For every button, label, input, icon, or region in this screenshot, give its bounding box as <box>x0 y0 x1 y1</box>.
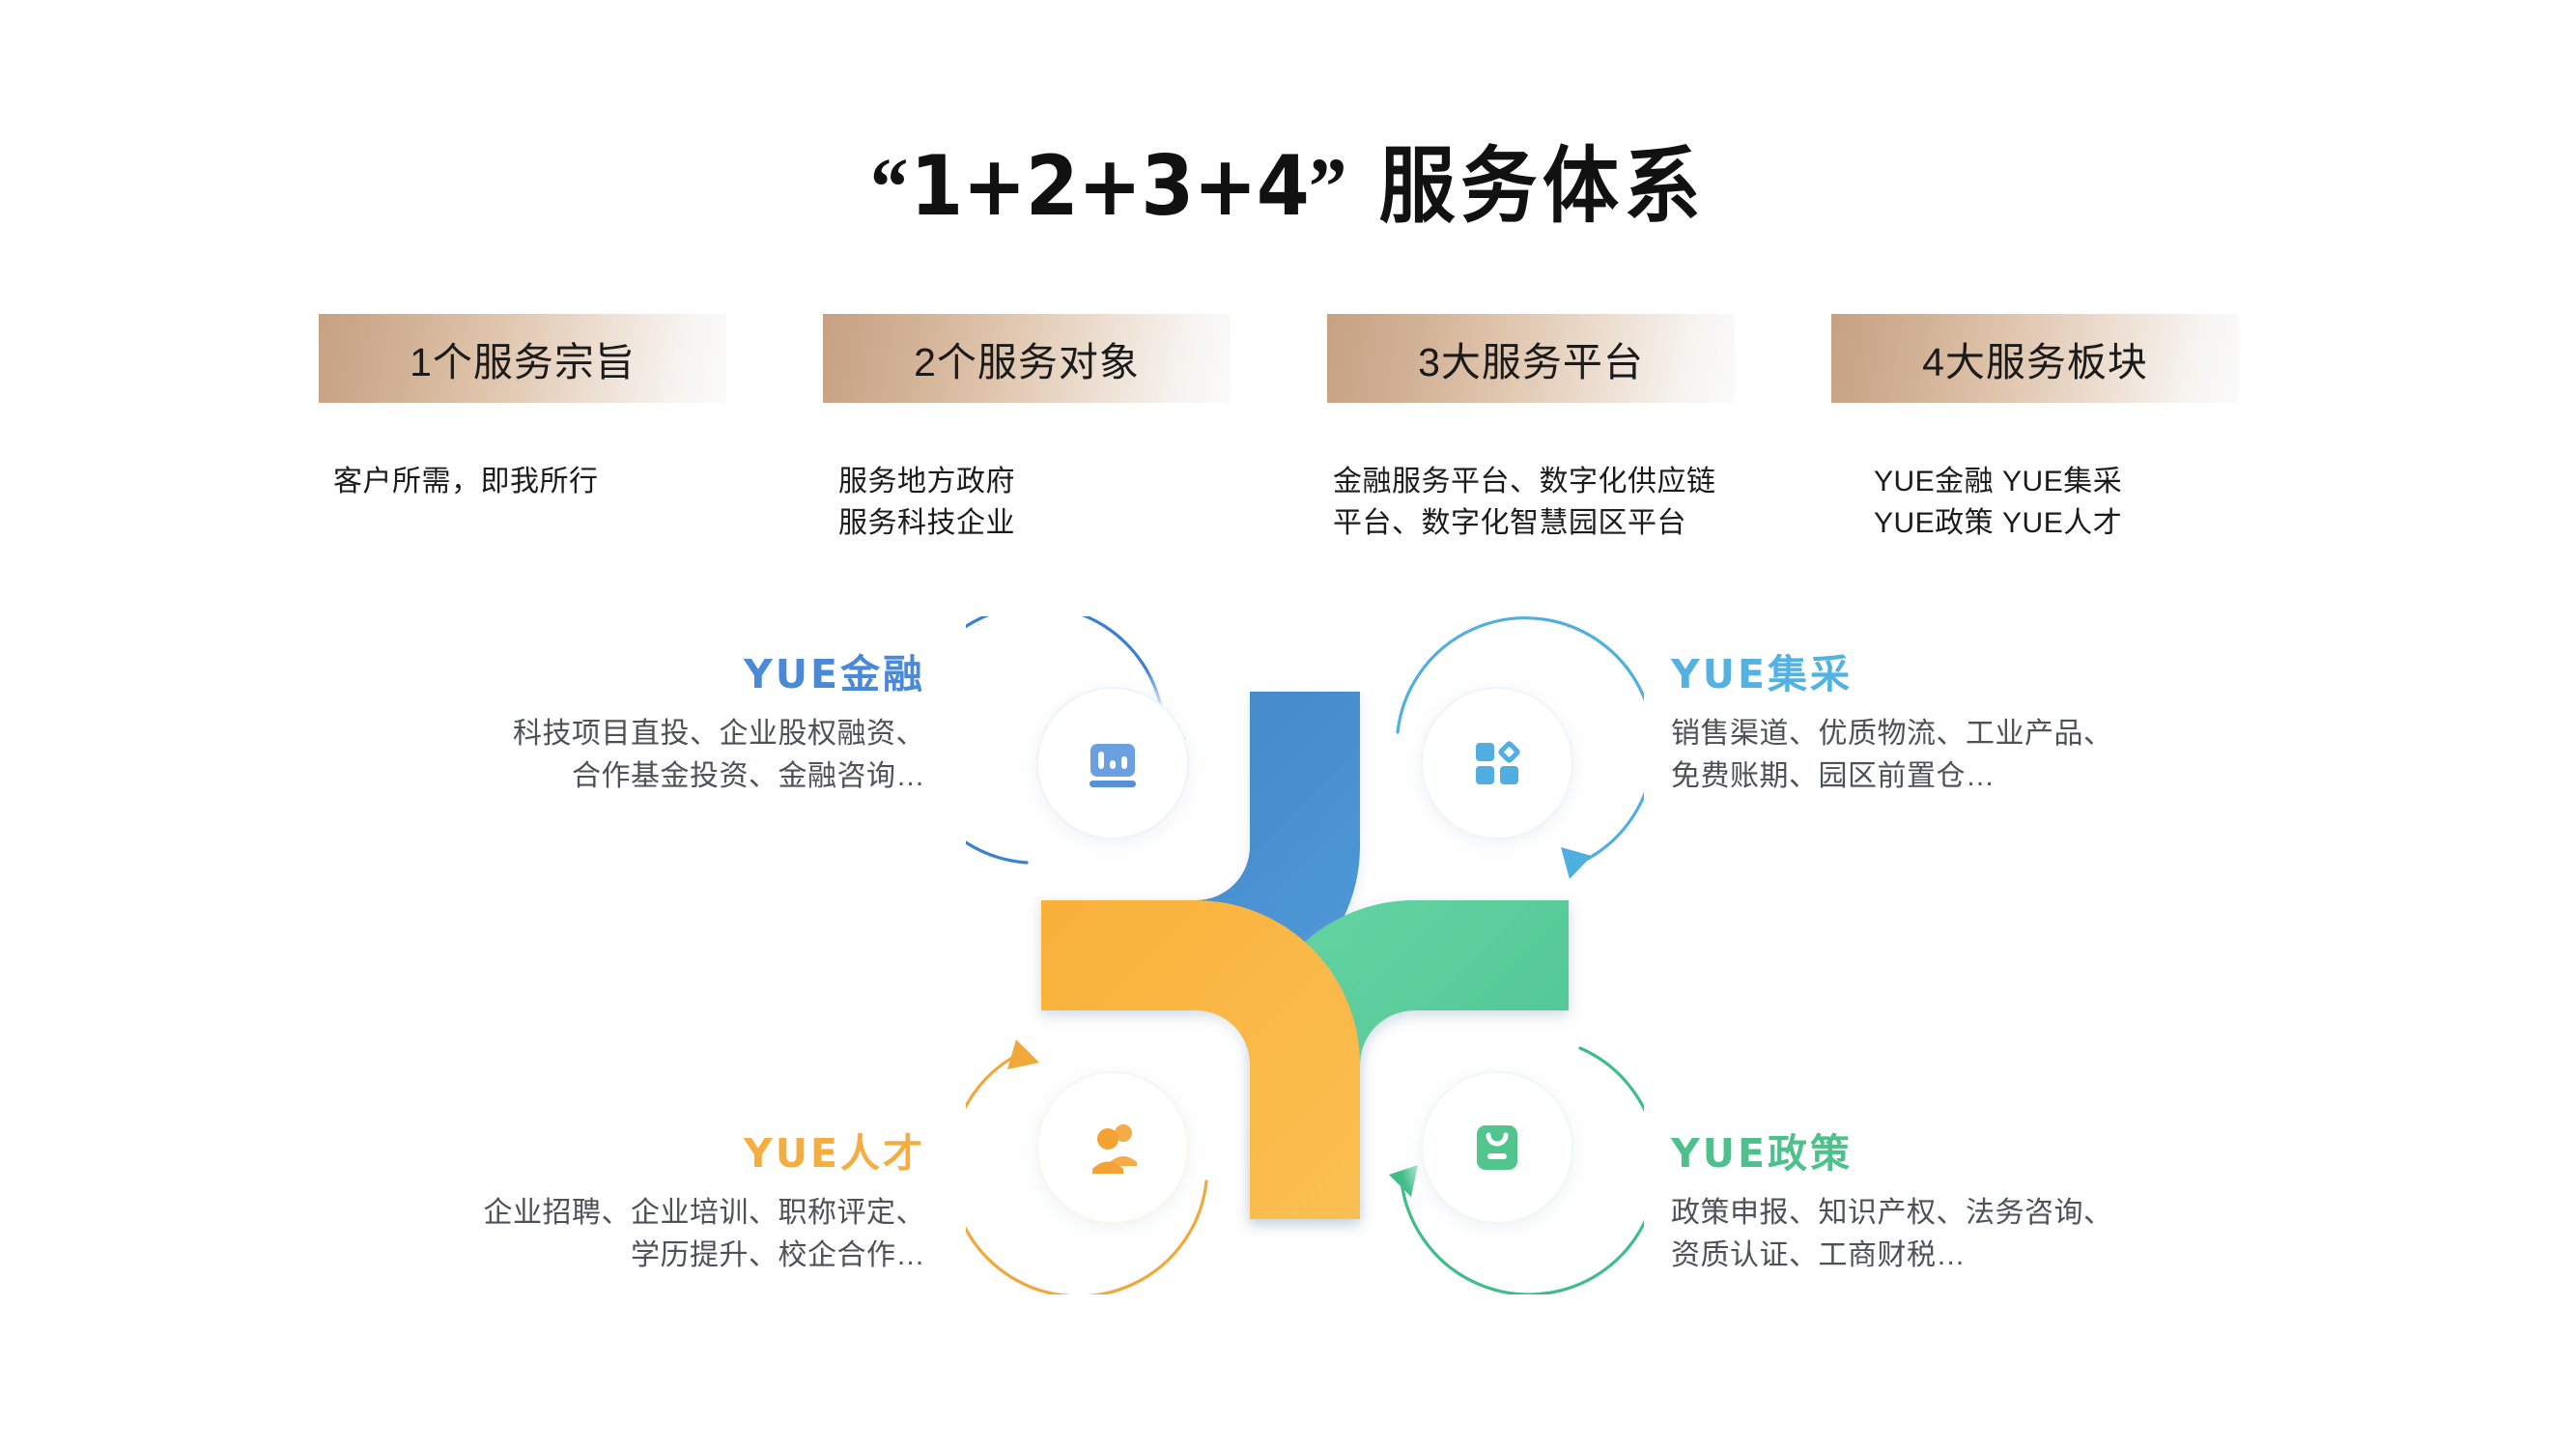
page-title: “1+2+3+4”服务体系 <box>103 118 2474 239</box>
quadrant-title-procurement: YUE集采 <box>1671 641 2250 699</box>
quadrant-procurement: YUE集采 销售渠道、优质物流、工业产品、 免费账期、园区前置仓… <box>1671 641 2250 799</box>
icon-badge-talent[interactable] <box>1013 1048 1212 1247</box>
quadrant-body-procurement: 销售渠道、优质物流、工业产品、 免费账期、园区前置仓… <box>1671 713 2250 799</box>
quadrant-policy: YUE政策 政策申报、知识产权、法务咨询、 资质认证、工商财税… <box>1671 1121 2250 1278</box>
pill-service-purpose: 1个服务宗旨 <box>319 314 726 403</box>
icon-badge-finance[interactable] <box>1013 664 1212 863</box>
quadrant-title-policy: YUE政策 <box>1671 1121 2250 1179</box>
icon-badge-policy[interactable] <box>1398 1048 1597 1247</box>
title-numbers: 1+2+3+4 <box>910 138 1309 235</box>
pill-label: 1个服务宗旨 <box>410 329 636 387</box>
pinwheel-diagram <box>966 616 1644 1294</box>
bar-chart-monitor-icon <box>1090 744 1136 787</box>
quadrant-finance: YUE金融 科技项目直投、企业股权融资、 合作基金投资、金融咨询… <box>367 641 925 799</box>
title-chinese: 服务体系 <box>1379 138 1707 235</box>
pill-desc-service-sectors: YUE金融 YUE集采 YUE政策 YUE人才 <box>1874 462 2122 544</box>
pill-row: 1个服务宗旨 2个服务对象 3大服务平台 4大服务板块 <box>0 314 2576 372</box>
pill-label: 4大服务板块 <box>1922 329 2148 387</box>
pill-desc-service-purpose: 客户所需，即我所行 <box>333 462 599 503</box>
pill-label: 2个服务对象 <box>914 329 1140 387</box>
pill-service-sectors: 4大服务板块 <box>1831 314 2239 403</box>
pill-service-platforms: 3大服务平台 <box>1327 314 1735 403</box>
quadrant-title-finance: YUE金融 <box>367 641 925 699</box>
quadrant-body-talent: 企业招聘、企业培训、职称评定、 学历提升、校企合作… <box>338 1192 925 1278</box>
slide-canvas: “1+2+3+4”服务体系 1个服务宗旨 2个服务对象 3大服务平台 4大服务板… <box>0 0 2576 1449</box>
quadrant-body-finance: 科技项目直投、企业股权融资、 合作基金投资、金融咨询… <box>367 713 925 799</box>
pill-label: 3大服务平台 <box>1418 329 1644 387</box>
quadrant-body-policy: 政策申报、知识产权、法务咨询、 资质认证、工商财税… <box>1671 1192 2250 1278</box>
title-quote-close: ” <box>1309 140 1348 233</box>
title-quote-open: “ <box>870 140 910 233</box>
quadrant-title-talent: YUE人才 <box>338 1121 925 1179</box>
icon-badge-procurement[interactable] <box>1398 664 1597 863</box>
shopping-bag-icon <box>1477 1125 1517 1170</box>
pill-service-targets: 2个服务对象 <box>823 314 1231 403</box>
pill-desc-service-targets: 服务地方政府 服务科技企业 <box>838 462 1015 544</box>
quadrant-talent: YUE人才 企业招聘、企业培训、职称评定、 学历提升、校企合作… <box>338 1121 925 1278</box>
pill-desc-service-platforms: 金融服务平台、数字化供应链 平台、数字化智慧园区平台 <box>1333 462 1716 544</box>
